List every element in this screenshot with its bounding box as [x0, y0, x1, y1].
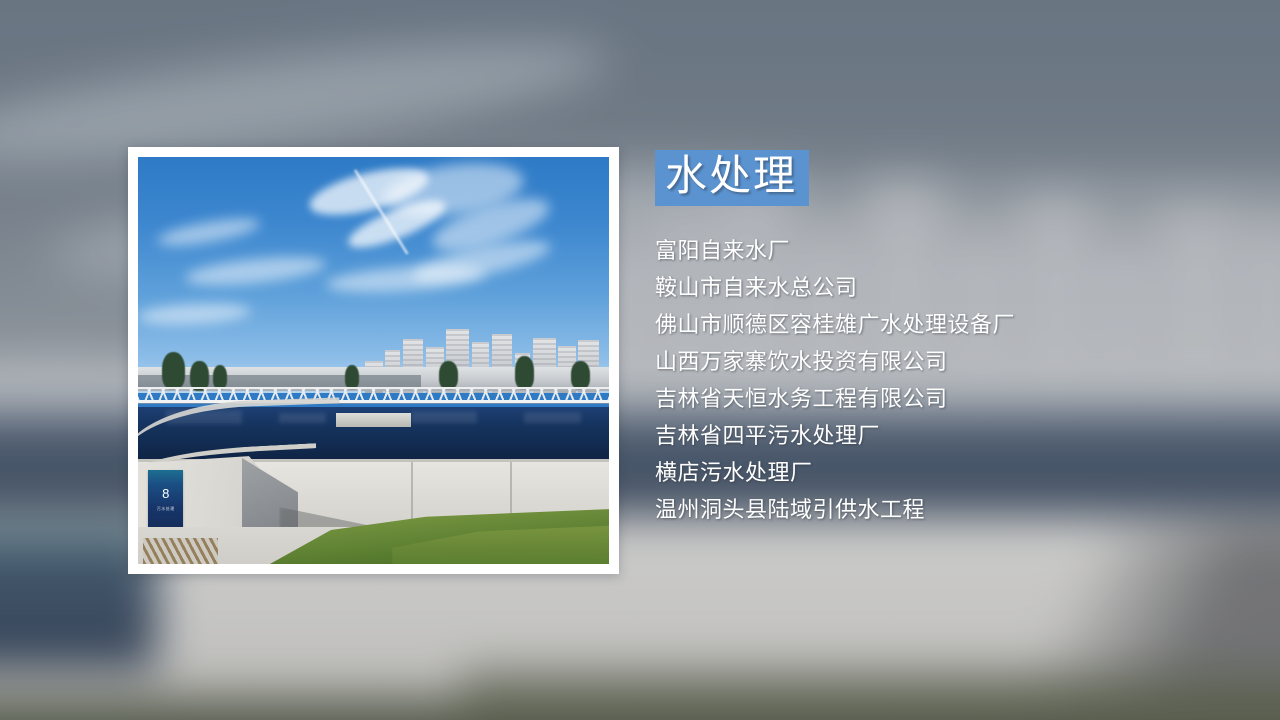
list-item: 鞍山市自来水总公司 — [655, 269, 1255, 306]
list-item: 吉林省天恒水务工程有限公司 — [655, 380, 1255, 417]
tree — [162, 352, 186, 389]
photo-basin-walkway — [336, 413, 411, 427]
tree — [571, 361, 590, 389]
tree — [439, 361, 458, 389]
photo-sign: 8 污水处理 — [148, 470, 183, 533]
photo-sign-number: 8 — [148, 487, 183, 500]
content-panel: 水处理 富阳自来水厂 鞍山市自来水总公司 佛山市顺德区容桂雄广水处理设备厂 山西… — [655, 150, 1255, 528]
page-title-badge: 水处理 — [655, 150, 809, 206]
photo-sign-subtext: 污水处理 — [148, 506, 183, 512]
tree — [515, 356, 534, 389]
list-item: 温州洞头县陆域引供水工程 — [655, 491, 1255, 528]
list-item: 佛山市顺德区容桂雄广水处理设备厂 — [655, 306, 1255, 343]
photo-drain-grate — [143, 538, 218, 564]
photo-card: 8 污水处理 — [128, 147, 619, 574]
page-title: 水处理 — [665, 155, 797, 199]
list-item: 富阳自来水厂 — [655, 232, 1255, 269]
list-item: 横店污水处理厂 — [655, 454, 1255, 491]
water-treatment-plant-photo: 8 污水处理 — [138, 157, 609, 564]
list-item: 山西万家寨饮水投资有限公司 — [655, 343, 1255, 380]
customer-list: 富阳自来水厂 鞍山市自来水总公司 佛山市顺德区容桂雄广水处理设备厂 山西万家寨饮… — [655, 232, 1255, 528]
list-item: 吉林省四平污水处理厂 — [655, 417, 1255, 454]
